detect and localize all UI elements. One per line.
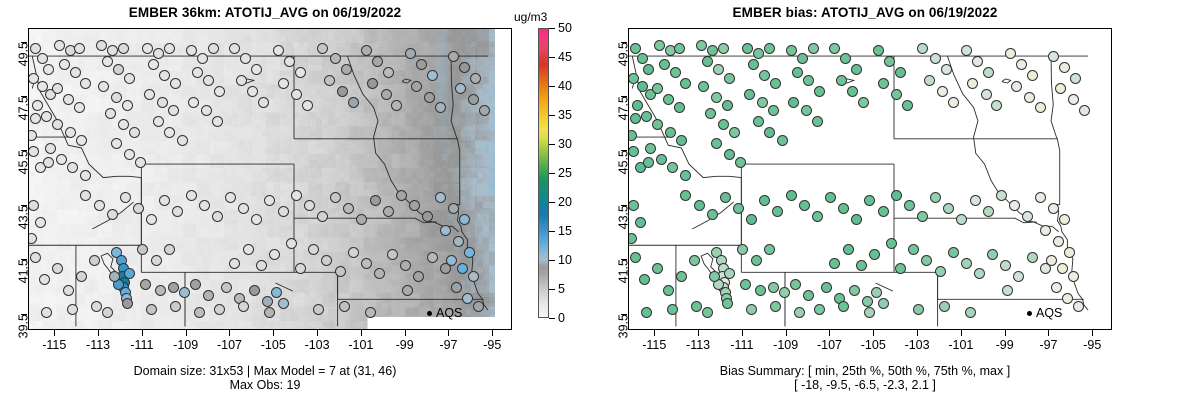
observation-marker[interactable] xyxy=(652,83,663,94)
observation-marker[interactable] xyxy=(30,113,41,124)
observation-marker[interactable] xyxy=(124,268,135,279)
observation-marker[interactable] xyxy=(339,301,350,312)
observation-marker[interactable] xyxy=(76,135,87,146)
observation-marker[interactable] xyxy=(52,263,63,274)
observation-marker[interactable] xyxy=(764,43,775,54)
observation-marker[interactable] xyxy=(214,86,225,97)
observation-marker[interactable] xyxy=(1073,301,1084,312)
observation-marker[interactable] xyxy=(680,78,691,89)
observation-marker[interactable] xyxy=(416,59,427,70)
observation-marker[interactable] xyxy=(479,105,490,116)
observation-marker[interactable] xyxy=(59,59,70,70)
observation-marker[interactable] xyxy=(212,211,223,222)
observation-marker[interactable] xyxy=(724,73,735,84)
observation-marker[interactable] xyxy=(96,40,107,51)
observation-marker[interactable] xyxy=(74,102,85,113)
observation-marker[interactable] xyxy=(356,214,367,225)
observation-marker[interactable] xyxy=(645,143,656,154)
observation-marker[interactable] xyxy=(365,307,376,318)
observation-marker[interactable] xyxy=(188,97,199,108)
observation-marker[interactable] xyxy=(696,40,707,51)
observation-marker[interactable] xyxy=(814,86,825,97)
observation-marker[interactable] xyxy=(295,67,306,78)
observation-marker[interactable] xyxy=(632,100,643,111)
observation-marker[interactable] xyxy=(427,70,438,81)
observation-marker[interactable] xyxy=(759,70,770,81)
observation-marker[interactable] xyxy=(94,200,105,211)
observation-marker[interactable] xyxy=(459,62,470,73)
observation-marker[interactable] xyxy=(871,287,882,298)
observation-marker[interactable] xyxy=(641,307,652,318)
observation-marker[interactable] xyxy=(111,92,122,103)
observation-marker[interactable] xyxy=(1059,214,1070,225)
observation-marker[interactable] xyxy=(913,304,924,315)
observation-marker[interactable] xyxy=(886,238,897,249)
observation-marker[interactable] xyxy=(413,271,424,282)
observation-marker[interactable] xyxy=(54,40,65,51)
observation-marker[interactable] xyxy=(707,45,718,56)
observation-marker[interactable] xyxy=(895,67,906,78)
observation-marker[interactable] xyxy=(849,285,860,296)
observation-marker[interactable] xyxy=(654,40,665,51)
observation-marker[interactable] xyxy=(229,43,240,54)
observation-marker[interactable] xyxy=(107,209,118,220)
observation-marker[interactable] xyxy=(256,260,267,271)
observation-marker[interactable] xyxy=(201,105,212,116)
observation-marker[interactable] xyxy=(343,203,354,214)
observation-marker[interactable] xyxy=(243,244,254,255)
observation-marker[interactable] xyxy=(102,307,113,318)
observation-marker[interactable] xyxy=(89,255,100,266)
observation-marker[interactable] xyxy=(370,195,381,206)
observation-marker[interactable] xyxy=(45,143,56,154)
observation-marker[interactable] xyxy=(440,263,451,274)
observation-marker[interactable] xyxy=(52,83,63,94)
observation-marker[interactable] xyxy=(803,290,814,301)
colorbar-model[interactable]: ug/m3 05101520253035404550 xyxy=(538,28,549,318)
observation-marker[interactable] xyxy=(41,111,52,122)
observation-marker[interactable] xyxy=(799,200,810,211)
observation-marker[interactable] xyxy=(63,94,74,105)
observation-marker[interactable] xyxy=(229,258,240,269)
observation-marker[interactable] xyxy=(120,192,131,203)
observation-marker[interactable] xyxy=(1000,260,1011,271)
observation-marker[interactable] xyxy=(1035,192,1046,203)
observation-marker[interactable] xyxy=(146,304,157,315)
observation-marker[interactable] xyxy=(264,307,275,318)
observation-marker[interactable] xyxy=(278,298,289,309)
observation-marker[interactable] xyxy=(711,138,722,149)
observation-marker[interactable] xyxy=(1040,225,1051,236)
observation-marker[interactable] xyxy=(733,203,744,214)
observation-marker[interactable] xyxy=(400,260,411,271)
observation-marker[interactable] xyxy=(878,78,889,89)
observation-marker[interactable] xyxy=(746,214,757,225)
observation-marker[interactable] xyxy=(722,100,733,111)
observation-marker[interactable] xyxy=(713,64,724,75)
observation-marker[interactable] xyxy=(135,157,146,168)
observation-marker[interactable] xyxy=(43,64,54,75)
observation-marker[interactable] xyxy=(383,206,394,217)
observation-marker[interactable] xyxy=(981,89,992,100)
observation-marker[interactable] xyxy=(122,100,133,111)
observation-marker[interactable] xyxy=(170,301,181,312)
observation-marker[interactable] xyxy=(41,307,52,318)
observation-marker[interactable] xyxy=(983,67,994,78)
observation-marker[interactable] xyxy=(948,97,959,108)
observation-marker[interactable] xyxy=(941,64,952,75)
observation-marker[interactable] xyxy=(52,119,63,130)
observation-marker[interactable] xyxy=(251,64,262,75)
observation-marker[interactable] xyxy=(30,252,41,263)
observation-marker[interactable] xyxy=(251,214,262,225)
observation-marker[interactable] xyxy=(674,102,685,113)
observation-marker[interactable] xyxy=(113,64,124,75)
observation-marker[interactable] xyxy=(473,301,484,312)
observation-marker[interactable] xyxy=(124,73,135,84)
observation-marker[interactable] xyxy=(718,119,729,130)
observation-marker[interactable] xyxy=(902,100,913,111)
observation-marker[interactable] xyxy=(1070,73,1081,84)
observation-marker[interactable] xyxy=(1016,59,1027,70)
observation-marker[interactable] xyxy=(464,247,475,258)
observation-marker[interactable] xyxy=(424,92,435,103)
observation-marker[interactable] xyxy=(965,307,976,318)
observation-marker[interactable] xyxy=(151,255,162,266)
observation-marker[interactable] xyxy=(656,154,667,165)
observation-marker[interactable] xyxy=(735,157,746,168)
observation-marker[interactable] xyxy=(972,56,983,67)
observation-marker[interactable] xyxy=(961,45,972,56)
observation-marker[interactable] xyxy=(159,195,170,206)
observation-marker[interactable] xyxy=(744,89,755,100)
observation-marker[interactable] xyxy=(455,83,466,94)
observation-marker[interactable] xyxy=(367,78,378,89)
observation-marker[interactable] xyxy=(740,279,751,290)
observation-marker[interactable] xyxy=(448,203,459,214)
observation-marker[interactable] xyxy=(680,190,691,201)
observation-marker[interactable] xyxy=(1027,70,1038,81)
observation-marker[interactable] xyxy=(676,135,687,146)
observation-marker[interactable] xyxy=(917,43,928,54)
observation-marker[interactable] xyxy=(153,116,164,127)
observation-marker[interactable] xyxy=(236,75,247,86)
observation-marker[interactable] xyxy=(348,247,359,258)
observation-marker[interactable] xyxy=(917,211,928,222)
observation-marker[interactable] xyxy=(1048,203,1059,214)
observation-marker[interactable] xyxy=(689,255,700,266)
observation-marker[interactable] xyxy=(67,162,78,173)
observation-marker[interactable] xyxy=(409,200,420,211)
observation-marker[interactable] xyxy=(674,43,685,54)
observation-marker[interactable] xyxy=(291,190,302,201)
observation-marker[interactable] xyxy=(286,238,297,249)
observation-marker[interactable] xyxy=(635,217,646,228)
observation-marker[interactable] xyxy=(1079,105,1090,116)
observation-marker[interactable] xyxy=(869,249,880,260)
observation-marker[interactable] xyxy=(30,43,41,54)
observation-marker[interactable] xyxy=(247,86,258,97)
map-bias[interactable]: AQS xyxy=(628,28,1112,330)
observation-marker[interactable] xyxy=(956,214,967,225)
observation-marker[interactable] xyxy=(691,301,702,312)
observation-marker[interactable] xyxy=(825,192,836,203)
observation-marker[interactable] xyxy=(111,138,122,149)
observation-marker[interactable] xyxy=(770,78,781,89)
observation-marker[interactable] xyxy=(468,271,479,282)
observation-marker[interactable] xyxy=(302,100,313,111)
observation-marker[interactable] xyxy=(457,263,468,274)
observation-marker[interactable] xyxy=(28,130,37,141)
observation-marker[interactable] xyxy=(786,190,797,201)
observation-marker[interactable] xyxy=(422,211,433,222)
observation-marker[interactable] xyxy=(751,255,762,266)
observation-marker[interactable] xyxy=(847,86,858,97)
observation-marker[interactable] xyxy=(264,195,275,206)
observation-marker[interactable] xyxy=(720,192,731,203)
observation-marker[interactable] xyxy=(391,100,402,111)
observation-marker[interactable] xyxy=(862,296,873,307)
observation-marker[interactable] xyxy=(643,157,654,168)
observation-marker[interactable] xyxy=(249,285,260,296)
observation-marker[interactable] xyxy=(667,162,678,173)
observation-marker[interactable] xyxy=(295,263,306,274)
observation-marker[interactable] xyxy=(324,75,335,86)
observation-marker[interactable] xyxy=(118,43,129,54)
observation-marker[interactable] xyxy=(991,100,1002,111)
observation-marker[interactable] xyxy=(1011,81,1022,92)
observation-marker[interactable] xyxy=(1055,83,1066,94)
observation-marker[interactable] xyxy=(836,75,847,86)
observation-marker[interactable] xyxy=(667,304,678,315)
observation-marker[interactable] xyxy=(891,89,902,100)
observation-marker[interactable] xyxy=(269,249,280,260)
observation-marker[interactable] xyxy=(129,127,140,138)
observation-marker[interactable] xyxy=(118,119,129,130)
observation-marker[interactable] xyxy=(873,45,884,56)
observation-marker[interactable] xyxy=(1035,102,1046,113)
observation-marker[interactable] xyxy=(1005,48,1016,59)
observation-marker[interactable] xyxy=(1062,293,1073,304)
observation-marker[interactable] xyxy=(1059,62,1070,73)
observation-marker[interactable] xyxy=(164,244,175,255)
observation-marker[interactable] xyxy=(803,75,814,86)
observation-marker[interactable] xyxy=(225,192,236,203)
observation-marker[interactable] xyxy=(996,190,1007,201)
observation-marker[interactable] xyxy=(829,258,840,269)
observation-marker[interactable] xyxy=(448,51,459,62)
observation-marker[interactable] xyxy=(271,287,282,298)
observation-marker[interactable] xyxy=(924,75,935,86)
observation-marker[interactable] xyxy=(451,282,462,293)
observation-marker[interactable] xyxy=(794,307,805,318)
observation-marker[interactable] xyxy=(698,81,709,92)
observation-marker[interactable] xyxy=(405,48,416,59)
observation-marker[interactable] xyxy=(76,271,87,282)
observation-marker[interactable] xyxy=(102,56,113,67)
observation-marker[interactable] xyxy=(65,127,76,138)
observation-marker[interactable] xyxy=(930,192,941,203)
observation-marker[interactable] xyxy=(313,304,324,315)
observation-marker[interactable] xyxy=(856,260,867,271)
observation-marker[interactable] xyxy=(186,45,197,56)
observation-marker[interactable] xyxy=(335,266,346,277)
observation-marker[interactable] xyxy=(764,127,775,138)
observation-marker[interactable] xyxy=(278,78,289,89)
observation-marker[interactable] xyxy=(411,81,422,92)
observation-marker[interactable] xyxy=(878,206,889,217)
observation-marker[interactable] xyxy=(908,244,919,255)
observation-marker[interactable] xyxy=(628,73,639,84)
observation-marker[interactable] xyxy=(1068,94,1079,105)
observation-marker[interactable] xyxy=(37,53,48,64)
observation-marker[interactable] xyxy=(878,298,889,309)
observation-marker[interactable] xyxy=(284,56,295,67)
observation-marker[interactable] xyxy=(28,73,39,84)
observation-marker[interactable] xyxy=(1024,92,1035,103)
observation-marker[interactable] xyxy=(663,94,674,105)
observation-marker[interactable] xyxy=(1022,211,1033,222)
observation-marker[interactable] xyxy=(746,304,757,315)
model-observation-markers[interactable] xyxy=(29,29,511,329)
observation-marker[interactable] xyxy=(639,274,650,285)
observation-marker[interactable] xyxy=(777,135,788,146)
observation-marker[interactable] xyxy=(98,81,109,92)
observation-marker[interactable] xyxy=(35,217,46,228)
observation-marker[interactable] xyxy=(709,271,720,282)
observation-marker[interactable] xyxy=(107,45,118,56)
observation-marker[interactable] xyxy=(753,116,764,127)
observation-marker[interactable] xyxy=(70,67,81,78)
observation-marker[interactable] xyxy=(630,252,641,263)
observation-marker[interactable] xyxy=(80,170,91,181)
observation-marker[interactable] xyxy=(63,285,74,296)
observation-marker[interactable] xyxy=(238,203,249,214)
observation-marker[interactable] xyxy=(453,236,464,247)
observation-marker[interactable] xyxy=(652,119,663,130)
observation-marker[interactable] xyxy=(652,263,663,274)
observation-marker[interactable] xyxy=(724,268,735,279)
observation-marker[interactable] xyxy=(792,67,803,78)
observation-marker[interactable] xyxy=(665,127,676,138)
observation-marker[interactable] xyxy=(801,105,812,116)
observation-marker[interactable] xyxy=(1048,51,1059,62)
observation-marker[interactable] xyxy=(737,244,748,255)
observation-marker[interactable] xyxy=(56,154,67,165)
observation-marker[interactable] xyxy=(812,116,823,127)
observation-marker[interactable] xyxy=(146,214,157,225)
observation-marker[interactable] xyxy=(470,73,481,84)
observation-marker[interactable] xyxy=(124,149,135,160)
observation-marker[interactable] xyxy=(1057,263,1068,274)
observation-marker[interactable] xyxy=(168,282,179,293)
observation-marker[interactable] xyxy=(772,206,783,217)
observation-marker[interactable] xyxy=(190,279,201,290)
observation-marker[interactable] xyxy=(168,105,179,116)
observation-marker[interactable] xyxy=(948,247,959,258)
observation-marker[interactable] xyxy=(663,285,674,296)
observation-marker[interactable] xyxy=(381,89,392,100)
observation-marker[interactable] xyxy=(330,192,341,203)
observation-marker[interactable] xyxy=(722,298,733,309)
observation-marker[interactable] xyxy=(170,78,181,89)
observation-marker[interactable] xyxy=(884,56,895,67)
observation-marker[interactable] xyxy=(753,48,764,59)
observation-marker[interactable] xyxy=(440,225,451,236)
observation-marker[interactable] xyxy=(80,190,91,201)
observation-marker[interactable] xyxy=(74,43,85,54)
observation-marker[interactable] xyxy=(137,244,148,255)
observation-marker[interactable] xyxy=(109,271,120,282)
observation-marker[interactable] xyxy=(278,206,289,217)
observation-marker[interactable] xyxy=(427,252,438,263)
observation-marker[interactable] xyxy=(383,67,394,78)
observation-marker[interactable] xyxy=(843,244,854,255)
observation-marker[interactable] xyxy=(630,43,641,54)
observation-marker[interactable] xyxy=(164,127,175,138)
observation-marker[interactable] xyxy=(172,206,183,217)
observation-marker[interactable] xyxy=(670,67,681,78)
observation-marker[interactable] xyxy=(838,301,849,312)
observation-marker[interactable] xyxy=(144,89,155,100)
observation-marker[interactable] xyxy=(468,94,479,105)
observation-marker[interactable] xyxy=(197,53,208,64)
observation-marker[interactable] xyxy=(895,263,906,274)
observation-marker[interactable] xyxy=(199,200,210,211)
observation-marker[interactable] xyxy=(814,304,825,315)
observation-marker[interactable] xyxy=(1051,282,1062,293)
observation-marker[interactable] xyxy=(987,249,998,260)
observation-marker[interactable] xyxy=(221,282,232,293)
observation-marker[interactable] xyxy=(851,64,862,75)
observation-marker[interactable] xyxy=(337,86,348,97)
observation-marker[interactable] xyxy=(164,43,175,54)
observation-marker[interactable] xyxy=(937,86,948,97)
observation-marker[interactable] xyxy=(864,307,875,318)
observation-marker[interactable] xyxy=(797,53,808,64)
observation-marker[interactable] xyxy=(304,200,315,211)
observation-marker[interactable] xyxy=(194,307,205,318)
observation-marker[interactable] xyxy=(812,211,823,222)
observation-marker[interactable] xyxy=(148,59,159,70)
observation-marker[interactable] xyxy=(641,111,652,122)
observation-marker[interactable] xyxy=(829,43,840,54)
observation-marker[interactable] xyxy=(387,249,398,260)
observation-marker[interactable] xyxy=(372,56,383,67)
observation-marker[interactable] xyxy=(808,43,819,54)
observation-marker[interactable] xyxy=(840,53,851,64)
observation-marker[interactable] xyxy=(291,89,302,100)
observation-marker[interactable] xyxy=(724,149,735,160)
observation-marker[interactable] xyxy=(970,195,981,206)
observation-marker[interactable] xyxy=(974,268,985,279)
observation-marker[interactable] xyxy=(361,45,372,56)
observation-marker[interactable] xyxy=(821,282,832,293)
observation-marker[interactable] xyxy=(208,43,219,54)
observation-marker[interactable] xyxy=(140,279,151,290)
observation-marker[interactable] xyxy=(67,304,78,315)
observation-marker[interactable] xyxy=(1013,271,1024,282)
observation-marker[interactable] xyxy=(212,116,223,127)
observation-marker[interactable] xyxy=(122,298,133,309)
observation-marker[interactable] xyxy=(258,97,269,108)
observation-marker[interactable] xyxy=(770,301,781,312)
observation-marker[interactable] xyxy=(858,97,869,108)
observation-marker[interactable] xyxy=(729,127,740,138)
observation-marker[interactable] xyxy=(935,266,946,277)
observation-marker[interactable] xyxy=(930,53,941,64)
observation-marker[interactable] xyxy=(755,285,766,296)
